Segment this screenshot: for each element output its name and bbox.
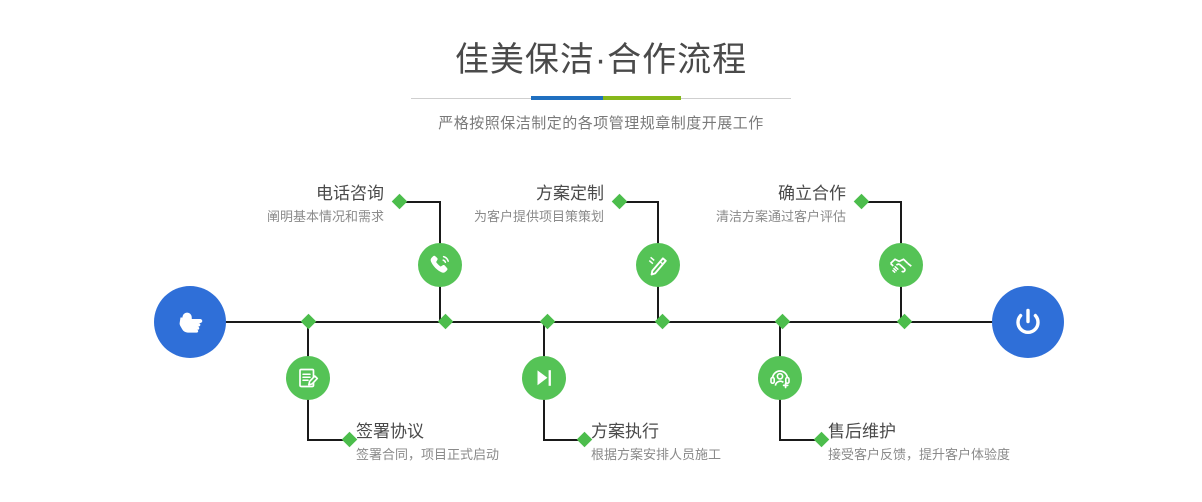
- step-title-1: 电话咨询: [267, 183, 384, 205]
- step-icon-bubble-2[interactable]: [286, 356, 330, 400]
- label-marker-5: [854, 194, 870, 210]
- page-title: 佳美保洁·合作流程: [0, 0, 1202, 82]
- phone-call-icon: [427, 252, 453, 278]
- step-icon-bubble-5[interactable]: [879, 243, 923, 287]
- page-header: 佳美保洁·合作流程 严格按照保洁制定的各项管理规章制度开展工作: [0, 0, 1202, 135]
- divider-segment-blue: [531, 96, 603, 100]
- divider-segment-green: [603, 96, 681, 100]
- document-sign-icon: [295, 365, 321, 391]
- handshake-icon: [888, 252, 914, 278]
- power-icon: [1008, 302, 1048, 342]
- step-label-4: 方案执行 根据方案安排人员施工: [591, 421, 721, 465]
- flow-end-endpoint: [992, 286, 1064, 358]
- step-desc-1: 阐明基本情况和需求: [267, 207, 384, 227]
- pencil-plan-icon: [645, 252, 671, 278]
- label-marker-4: [577, 432, 593, 448]
- step-title-2: 签署协议: [356, 421, 499, 443]
- play-execute-icon: [531, 365, 557, 391]
- step-title-3: 方案定制: [474, 183, 604, 205]
- pointing-hand-icon: [170, 302, 210, 342]
- step-desc-6: 接受客户反馈，提升客户体验度: [828, 445, 1010, 465]
- label-marker-3: [612, 194, 628, 210]
- process-flow-diagram: 电话咨询 阐明基本情况和需求 签署协议 签署合同，项目正式启动 方案定制 为客户…: [0, 150, 1202, 502]
- step-label-5: 确立合作 清洁方案通过客户评估: [716, 183, 846, 227]
- step-desc-4: 根据方案安排人员施工: [591, 445, 721, 465]
- step-title-6: 售后维护: [828, 421, 1010, 443]
- step-title-5: 确立合作: [716, 183, 846, 205]
- step-desc-3: 为客户提供项目策策划: [474, 207, 604, 227]
- step-label-2: 签署协议 签署合同，项目正式启动: [356, 421, 499, 465]
- label-marker-1: [392, 194, 408, 210]
- step-label-3: 方案定制 为客户提供项目策策划: [474, 183, 604, 227]
- step-label-6: 售后维护 接受客户反馈，提升客户体验度: [828, 421, 1010, 465]
- title-divider: [411, 94, 791, 104]
- customer-service-icon: [767, 365, 793, 391]
- node-marker-5: [775, 314, 791, 330]
- step-icon-bubble-1[interactable]: [418, 243, 462, 287]
- step-icon-bubble-3[interactable]: [636, 243, 680, 287]
- page-subtitle: 严格按照保洁制定的各项管理规章制度开展工作: [0, 104, 1202, 135]
- step-desc-2: 签署合同，项目正式启动: [356, 445, 499, 465]
- flow-start-endpoint: [154, 286, 226, 358]
- step-desc-5: 清洁方案通过客户评估: [716, 207, 846, 227]
- step-label-1: 电话咨询 阐明基本情况和需求: [267, 183, 384, 227]
- step-title-4: 方案执行: [591, 421, 721, 443]
- label-marker-2: [342, 432, 358, 448]
- step-icon-bubble-6[interactable]: [758, 356, 802, 400]
- node-marker-1: [301, 314, 317, 330]
- label-marker-6: [814, 432, 830, 448]
- step-icon-bubble-4[interactable]: [522, 356, 566, 400]
